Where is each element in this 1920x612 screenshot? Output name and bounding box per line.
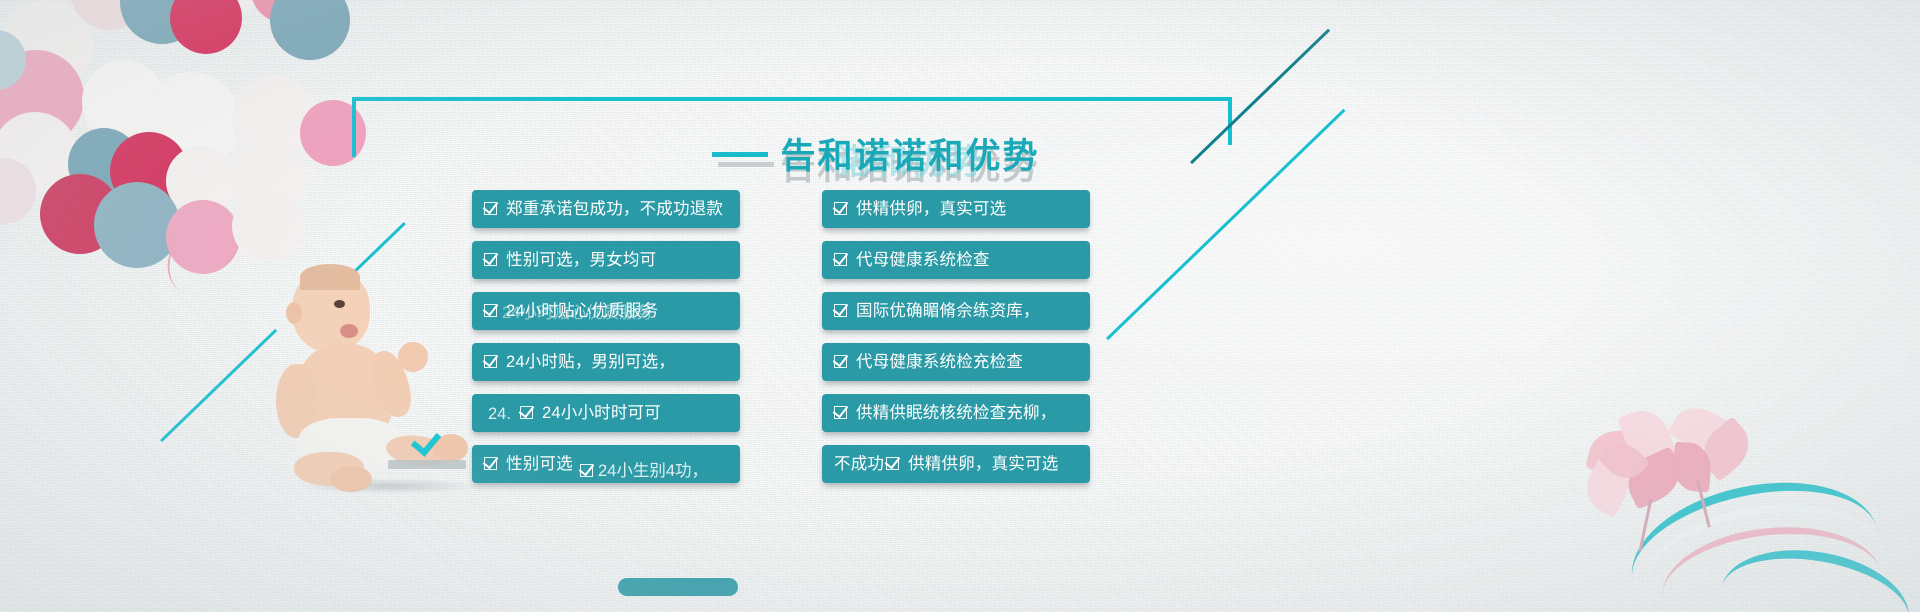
list-item[interactable]: 24小时贴，男别可选， xyxy=(472,343,740,381)
stray-grey-bar xyxy=(388,460,466,469)
list-item-label: 供精供卵，真实可选 xyxy=(908,456,1058,473)
list-item-label-ghost: 24小生别4功， xyxy=(598,463,708,480)
list-item[interactable]: 性别可选 24小生别4功， xyxy=(472,445,740,483)
banner-title-group: 告和诺诺和优势 诺和优势 告和诺诺和优势 xyxy=(700,128,1120,180)
list-item-label: 性别可选，男女均可 xyxy=(506,252,656,269)
list-item-label: 代母健康系统检充检查 xyxy=(856,354,1023,371)
list-item-label: 24小小时时可可 xyxy=(542,405,661,422)
feature-list-left: 郑重承诺包成功，不成功退款 性别可选，男女均可 24小时贴心优质服务 24小时贴… xyxy=(472,190,744,496)
list-item-label: 国际优确睸脩佘练资库， xyxy=(856,303,1040,320)
list-item[interactable]: 供精供卵，真实可选 xyxy=(822,190,1090,228)
list-item[interactable]: 性别可选，男女均可 xyxy=(472,241,740,279)
list-item-label: 供精供眠统核统检查充柳， xyxy=(856,405,1056,422)
check-square-icon xyxy=(886,457,901,472)
list-item-label: 郑重承诺包成功，不成功退款 xyxy=(506,201,723,218)
list-item[interactable]: 不成功 供精供卵，真实可选 xyxy=(822,445,1090,483)
check-square-icon xyxy=(834,253,849,268)
list-item-label: 代母健康系统检查 xyxy=(856,252,990,269)
check-square-icon xyxy=(484,355,499,370)
check-square-icon-secondary xyxy=(580,464,595,479)
list-item[interactable]: 国际优确睸脩佘练资库， xyxy=(822,292,1090,330)
list-item[interactable]: 24. 24小小时时可可 xyxy=(472,394,740,432)
list-item-label: 24小时贴，男别可选， xyxy=(506,354,675,371)
check-square-icon xyxy=(484,304,499,319)
list-item-label-ghost: 不成功 xyxy=(834,456,884,473)
check-square-icon xyxy=(484,202,499,217)
baby-photo xyxy=(282,268,472,492)
list-item[interactable]: 代母健康系统检查 xyxy=(822,241,1090,279)
stray-teal-bar xyxy=(618,578,738,596)
check-square-icon xyxy=(484,457,499,472)
check-square-icon xyxy=(520,406,535,421)
stray-check-icon xyxy=(415,432,441,458)
list-item-label: 供精供卵，真实可选 xyxy=(856,201,1006,218)
frame-line-left xyxy=(352,97,356,157)
check-square-icon xyxy=(834,304,849,319)
page-title: 告和诺诺和优势 xyxy=(700,128,1120,179)
list-item[interactable]: 24小时贴心优质服务 24小时贴心优质服务 xyxy=(472,292,740,330)
check-square-icon xyxy=(834,406,849,421)
frame-line-top xyxy=(352,97,1232,101)
diagonal-line-left-2 xyxy=(160,329,277,442)
balloon-ribbon xyxy=(163,229,215,295)
feature-list-right: 供精供卵，真实可选 代母健康系统检查 国际优确睸脩佘练资库， 代母健康系统检充检… xyxy=(822,190,1090,496)
check-square-icon xyxy=(484,253,499,268)
list-item[interactable]: 代母健康系统检充检查 xyxy=(822,343,1090,381)
flower-ribbon-decoration xyxy=(1570,402,1920,612)
list-item-label: 24小时贴心优质服务 xyxy=(506,303,658,320)
check-square-icon xyxy=(834,202,849,217)
list-item-label: 性别可选 xyxy=(506,456,573,473)
list-item-label-ghost: 24. xyxy=(488,406,511,423)
list-item[interactable]: 供精供眠统核统检查充柳， xyxy=(822,394,1090,432)
diagonal-line-top-right-2 xyxy=(1106,109,1345,340)
check-square-icon xyxy=(834,355,849,370)
list-item[interactable]: 郑重承诺包成功，不成功退款 xyxy=(472,190,740,228)
promo-banner: 告和诺诺和优势 诺和优势 告和诺诺和优势 郑重承诺包成功，不成功退款 性别可选，… xyxy=(0,0,1920,612)
